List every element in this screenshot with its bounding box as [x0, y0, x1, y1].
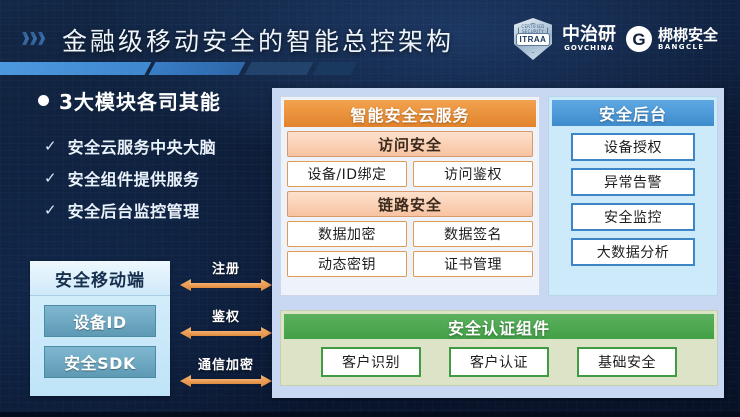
itraa-logo-text: ITRAA — [517, 34, 550, 45]
architecture-panel: 智能安全云服务 访问安全 设备/ID绑定 访问鉴权 链路安全 数据加密 数据签名… — [272, 88, 724, 398]
double-arrow-icon — [180, 327, 272, 339]
security-backend-card: 安全后台 设备授权 异常告警 安全监控 大数据分析 — [548, 96, 718, 296]
shield-arc-text: CERTIFIED SECURITY — [514, 24, 552, 34]
govchina-logo-cn: 中治研 — [562, 26, 616, 44]
feature-list: ✓ 安全云服务中央大脑 ✓ 安全组件提供服务 ✓ 安全后台监控管理 — [44, 130, 216, 226]
bangcle-mark-icon: G — [626, 26, 652, 52]
connector-label: 通信加密 — [180, 354, 272, 373]
cloud-section-access-security: 访问安全 — [287, 131, 533, 157]
auth-cell: 客户识别 — [321, 347, 421, 377]
bangcle-logo: G 梆梆安全 BANGCLE — [626, 26, 718, 52]
list-item-label: 安全云服务中央大脑 — [68, 134, 217, 158]
govchina-logo: 中治研 GOVCHINA — [562, 26, 616, 52]
backend-cell: 异常告警 — [571, 168, 695, 196]
check-icon: ✓ — [44, 171, 57, 186]
connector-arrow-group: 注册 鉴权 通信加密 — [180, 258, 272, 398]
cloud-cell: 证书管理 — [413, 251, 533, 277]
chevrons-right-icon — [22, 32, 45, 45]
cloud-service-title: 智能安全云服务 — [284, 100, 536, 127]
bullet-dot-icon — [38, 95, 49, 106]
bangcle-logo-en: BANGCLE — [658, 44, 718, 51]
list-item-label: 安全后台监控管理 — [68, 198, 200, 222]
cloud-section-link-security: 链路安全 — [287, 191, 533, 217]
auth-component-card: 安全认证组件 客户识别 客户认证 基础安全 — [280, 310, 718, 386]
section-heading: 3大模块各司其能 — [38, 86, 221, 115]
page-title: 金融级移动安全的智能总控架构 — [62, 22, 454, 58]
auth-cell: 基础安全 — [577, 347, 677, 377]
slide-header: 金融级移动安全的智能总控架构 CERTIFIED SECURITY ITRAA … — [0, 0, 740, 72]
mobile-client-box: 安全移动端 设备ID 安全SDK — [30, 261, 170, 396]
check-icon: ✓ — [44, 139, 57, 154]
connector-label: 鉴权 — [180, 306, 272, 325]
cloud-cell: 设备/ID绑定 — [287, 161, 407, 187]
backend-cell: 大数据分析 — [571, 238, 695, 266]
list-item: ✓ 安全后台监控管理 — [44, 194, 216, 226]
auth-row: 客户识别 客户认证 基础安全 — [281, 347, 717, 377]
auth-cell: 客户认证 — [449, 347, 549, 377]
cloud-row: 动态密钥 证书管理 — [287, 251, 533, 277]
logo-group: CERTIFIED SECURITY ITRAA 中治研 GOVCHINA G … — [514, 18, 718, 60]
section-heading-label: 3大模块各司其能 — [59, 86, 221, 115]
cloud-cell: 数据签名 — [413, 221, 533, 247]
cloud-row: 数据加密 数据签名 — [287, 221, 533, 247]
govchina-logo-en: GOVCHINA — [564, 45, 614, 52]
cloud-service-card: 智能安全云服务 访问安全 设备/ID绑定 访问鉴权 链路安全 数据加密 数据签名… — [280, 96, 540, 296]
check-icon: ✓ — [44, 203, 57, 218]
list-item: ✓ 安全组件提供服务 — [44, 162, 216, 194]
list-item: ✓ 安全云服务中央大脑 — [44, 130, 216, 162]
connector-register: 注册 — [180, 258, 272, 291]
mobile-chip-device-id: 设备ID — [44, 305, 156, 337]
double-arrow-icon — [180, 279, 272, 291]
cloud-cell: 访问鉴权 — [413, 161, 533, 187]
double-arrow-icon — [180, 375, 272, 387]
connector-label: 注册 — [180, 258, 272, 277]
header-accent-band — [0, 62, 400, 75]
connector-encrypted-comm: 通信加密 — [180, 354, 272, 387]
cloud-cell: 动态密钥 — [287, 251, 407, 277]
auth-component-title: 安全认证组件 — [284, 314, 714, 339]
cloud-row: 设备/ID绑定 访问鉴权 — [287, 161, 533, 187]
bangcle-logo-cn: 梆梆安全 — [658, 28, 718, 43]
mobile-client-title: 安全移动端 — [30, 261, 170, 296]
security-backend-title: 安全后台 — [552, 100, 714, 126]
cloud-cell: 数据加密 — [287, 221, 407, 247]
list-item-label: 安全组件提供服务 — [68, 166, 200, 190]
mobile-chip-security-sdk: 安全SDK — [44, 346, 156, 378]
connector-authentication: 鉴权 — [180, 306, 272, 339]
itraa-shield-logo: CERTIFIED SECURITY ITRAA — [514, 18, 552, 60]
backend-cell: 设备授权 — [571, 133, 695, 161]
slide-canvas: 金融级移动安全的智能总控架构 CERTIFIED SECURITY ITRAA … — [0, 0, 740, 417]
backend-cell: 安全监控 — [571, 203, 695, 231]
